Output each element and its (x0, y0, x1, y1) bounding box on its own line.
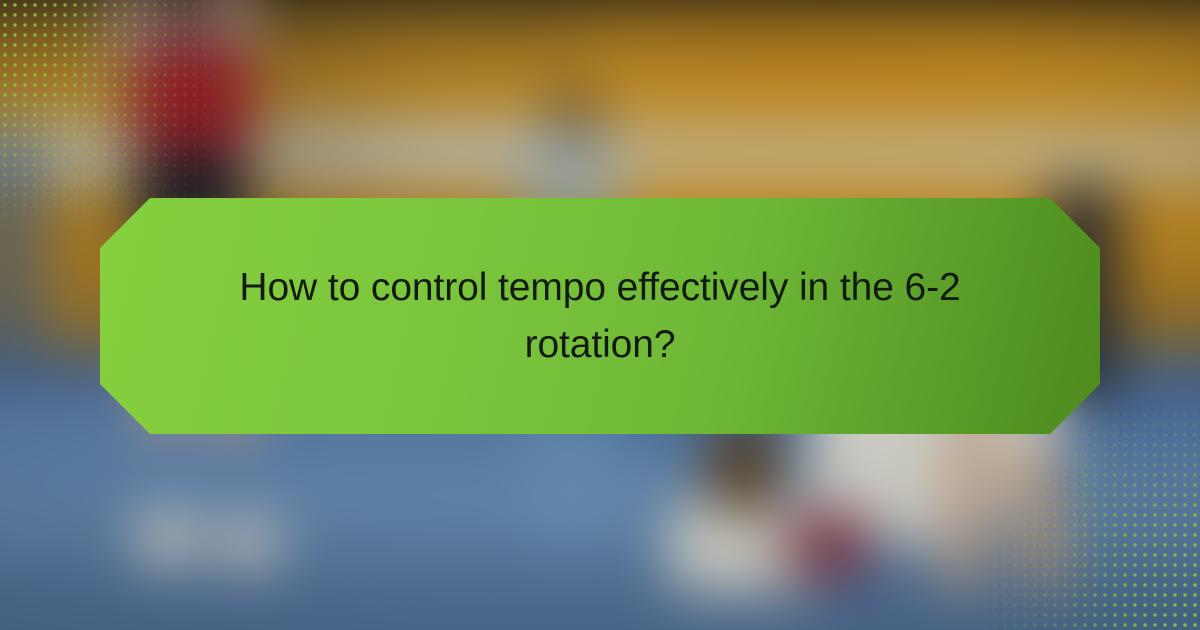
page-title: How to control tempo effectively in the … (220, 259, 980, 373)
headline-banner: How to control tempo effectively in the … (100, 198, 1100, 434)
graphic-canvas: How to control tempo effectively in the … (0, 0, 1200, 630)
